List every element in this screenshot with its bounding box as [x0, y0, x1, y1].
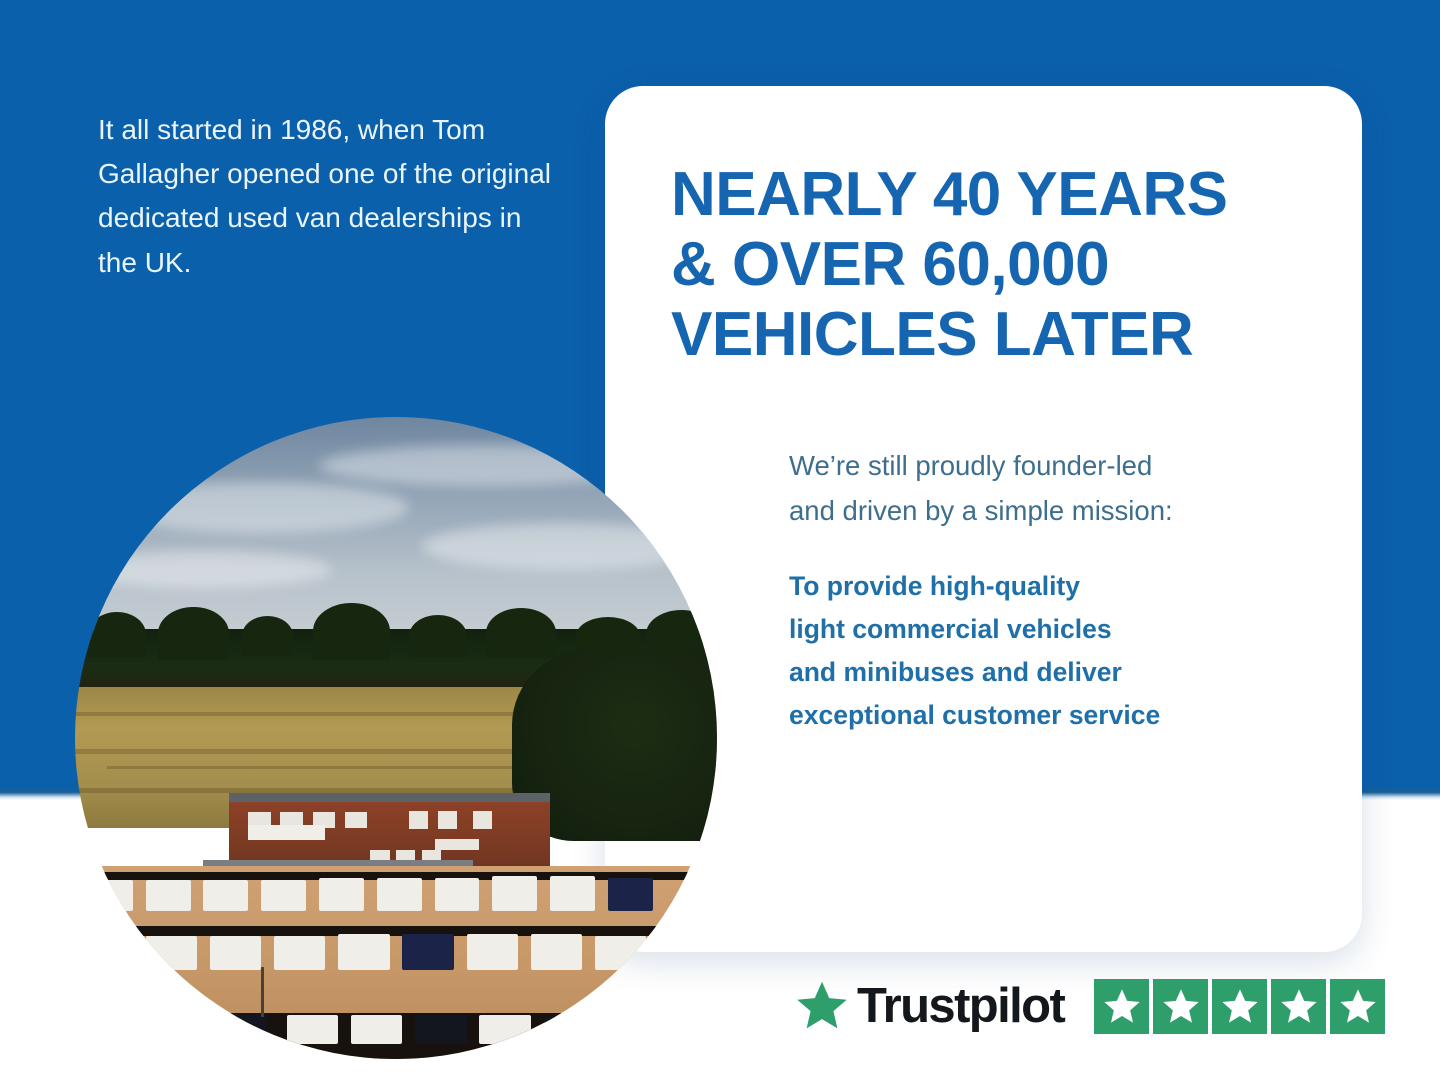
- star-box-2: [1153, 979, 1208, 1034]
- headline: NEARLY 40 YEARS & OVER 60,000 VEHICLES L…: [671, 160, 1308, 370]
- star-box-4: [1271, 979, 1326, 1034]
- mission-line-2: light commercial vehicles: [789, 608, 1308, 651]
- info-card: NEARLY 40 YEARS & OVER 60,000 VEHICLES L…: [605, 86, 1362, 952]
- trustpilot-rating[interactable]: Trustpilot: [793, 978, 1385, 1034]
- mission-line-3: and minibuses and deliver: [789, 651, 1308, 694]
- star-box-1: [1094, 979, 1149, 1034]
- dealership-photo: [75, 417, 717, 1059]
- mission-line-1: To provide high-quality: [789, 565, 1308, 608]
- photo-dealer-sign: [248, 825, 325, 840]
- headline-line-1: NEARLY 40 YEARS: [671, 160, 1308, 230]
- subtext-paragraph: We’re still proudly founder-led and driv…: [789, 444, 1308, 533]
- headline-line-3: VEHICLES LATER: [671, 300, 1308, 370]
- trustpilot-wordmark: Trustpilot: [857, 978, 1064, 1034]
- headline-line-2: & OVER 60,000: [671, 230, 1308, 300]
- subtext-line-1: We’re still proudly founder-led: [789, 444, 1308, 489]
- photo-forecourt: [75, 866, 717, 1059]
- trustpilot-star-rating: [1094, 979, 1385, 1034]
- star-box-3: [1212, 979, 1267, 1034]
- star-box-5: [1330, 979, 1385, 1034]
- intro-paragraph: It all started in 1986, when Tom Gallagh…: [98, 108, 568, 285]
- mission-line-4: exceptional customer service: [789, 694, 1308, 737]
- subtext-line-2: and driven by a simple mission:: [789, 489, 1308, 534]
- trustpilot-star-icon: [793, 978, 851, 1034]
- mission-statement: To provide high-quality light commercial…: [789, 565, 1308, 737]
